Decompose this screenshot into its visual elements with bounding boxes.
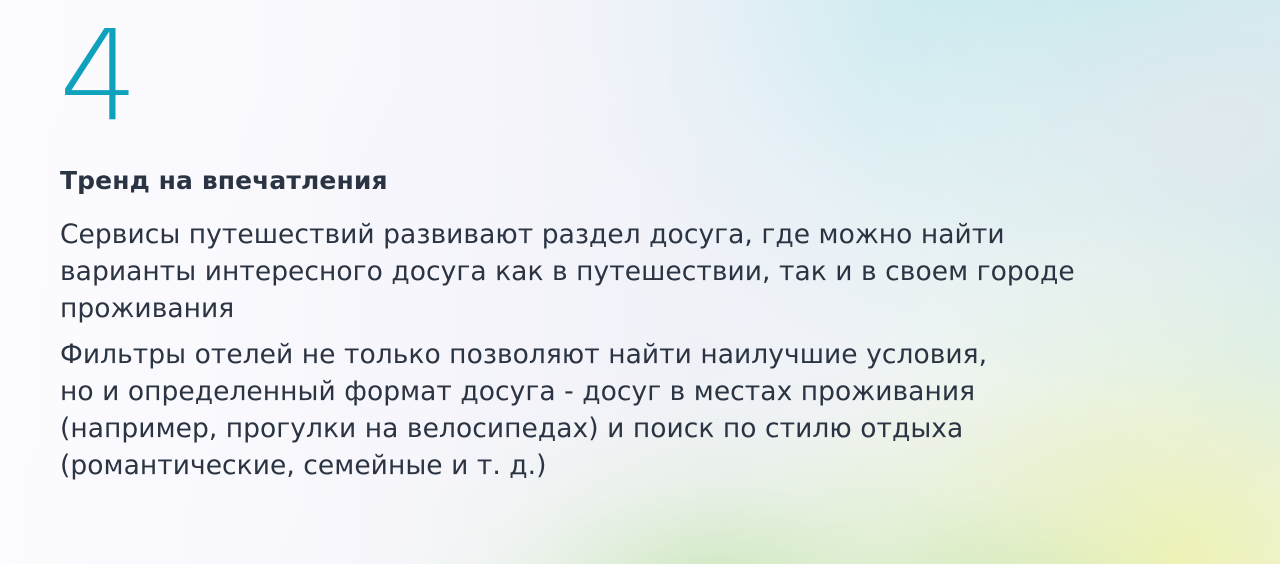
slide-number: 4: [59, 14, 138, 139]
presentation-slide: 4 Тренд на впечатления Сервисы путешеств…: [0, 0, 1280, 564]
body-paragraph-hotel-filters: Фильтры отелей не только позволяют найти…: [60, 336, 1240, 484]
slide-body: Сервисы путешествий развивают раздел дос…: [60, 216, 1240, 484]
slide-heading: Тренд на впечатления: [60, 166, 388, 196]
body-paragraph-leisure-section: Сервисы путешествий развивают раздел дос…: [60, 216, 1240, 327]
